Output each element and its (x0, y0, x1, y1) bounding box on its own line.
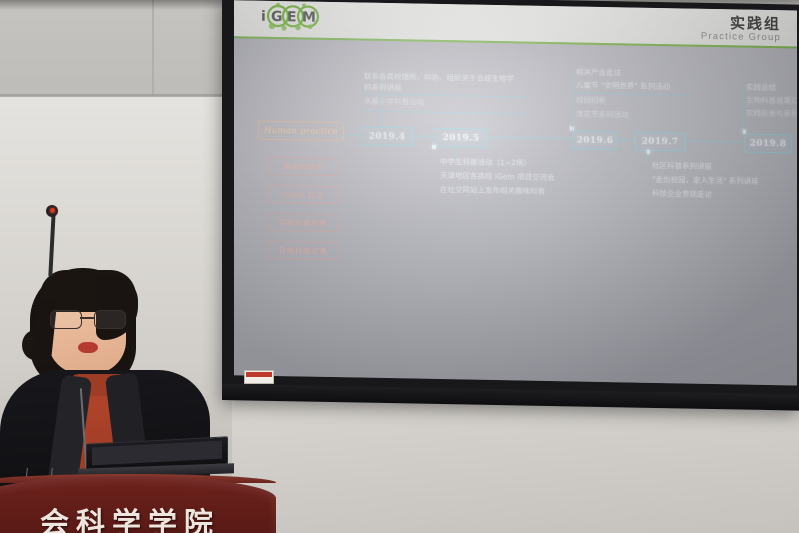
note-2019-8-line-1: 实践总结 (746, 82, 776, 94)
glasses-icon (50, 310, 126, 328)
note-2019-8-line-2: 生物科普成果汇报 (746, 95, 797, 107)
svg-text:E: E (287, 9, 297, 25)
note-connector (742, 88, 743, 134)
timeline-axis-segment (344, 134, 360, 135)
wall-panel-seam (152, 0, 154, 96)
note-2019-4-line-2: 的系列讲座 (364, 82, 402, 94)
note-underline (362, 111, 528, 115)
note-2019-6-line-3: 校园招新 (576, 94, 606, 106)
laptop-screen (92, 441, 222, 466)
human-practice-label: Human practice (258, 121, 344, 142)
note-2019-7-line-3: 科技企业参观走访 (652, 188, 712, 200)
note-2019-7-line-2: "走出校园，走入生活" 系列讲座 (652, 174, 759, 187)
svg-text:i: i (261, 9, 266, 25)
slide-title-english: Practice Group (701, 31, 781, 43)
side-box-daily-record[interactable]: 日常科普记录 (266, 241, 340, 260)
slide-body: Human practice 新闻与宣传 iGem 日记 实验科普视频 日常科普… (234, 40, 797, 385)
side-box-science-video[interactable]: 实验科普视频 (266, 213, 340, 232)
microphone-led-icon (50, 208, 55, 213)
timeline-node-2019-6[interactable]: 2019.6 (572, 130, 618, 150)
timeline-axis-segment (616, 139, 634, 140)
podium-sign-text: 会科学学院 (0, 500, 270, 533)
note-2019-7-line-1: 社区科普系列讲座 (652, 160, 712, 172)
timeline-axis-segment (486, 137, 572, 140)
projection-screen-frame: iG EM 实践组 Practice Group Human practi (222, 0, 799, 409)
note-connector (572, 72, 573, 130)
side-box-news[interactable]: 新闻与宣传 (266, 157, 340, 176)
note-2019-5-line-1: 中学生科普活动（1~2场） (440, 156, 531, 169)
note-2019-6-line-4: 滨花节系列活动 (576, 108, 629, 120)
glasses-lens-right (94, 310, 126, 329)
glasses-bridge (80, 317, 94, 319)
note-2019-6-line-2: 儿童节 "文明世界" 系列活动 (576, 79, 670, 92)
wall-upper-panel (0, 0, 230, 96)
timeline-node-2019-5[interactable]: 2019.5 (434, 128, 488, 148)
timeline-axis-segment (684, 140, 744, 142)
glasses-lens-left (50, 310, 82, 329)
timeline-node-2019-7[interactable]: 2019.7 (634, 132, 686, 152)
side-box-igem-diary[interactable]: iGem 日记 (266, 185, 340, 204)
note-connector (646, 150, 647, 164)
note-2019-8-line-3: 实践队参与系列活动 (746, 108, 797, 120)
note-2019-6-line-1: 相关产业走访 (576, 66, 621, 78)
timeline-node-2019-4[interactable]: 2019.4 (360, 127, 414, 147)
lips (78, 342, 98, 353)
timeline-axis-segment (412, 135, 434, 136)
svg-text:G: G (271, 9, 282, 25)
timeline-dot (432, 145, 436, 149)
lecture-hall-photo: iG EM 实践组 Practice Group Human practi (0, 0, 799, 533)
note-2019-4-line-3: 永基小学科普活动 (364, 96, 424, 108)
projection-screen-surface: iG EM 实践组 Practice Group Human practi (234, 0, 797, 385)
safety-label-icon (244, 370, 274, 384)
wall-horizontal-seam (0, 94, 235, 97)
note-2019-5-line-2: 天津地区各高校 iGem 项目交流会 (440, 170, 555, 183)
igem-logo-icon: iG EM (254, 0, 322, 34)
note-2019-5-line-3: 在社交网站上发布相关趣味科普 (440, 184, 545, 197)
timeline-node-2019-8[interactable]: 2019.8 (744, 134, 792, 154)
svg-text:M: M (302, 9, 316, 25)
presentation-slide: iG EM 实践组 Practice Group Human practi (234, 0, 797, 385)
